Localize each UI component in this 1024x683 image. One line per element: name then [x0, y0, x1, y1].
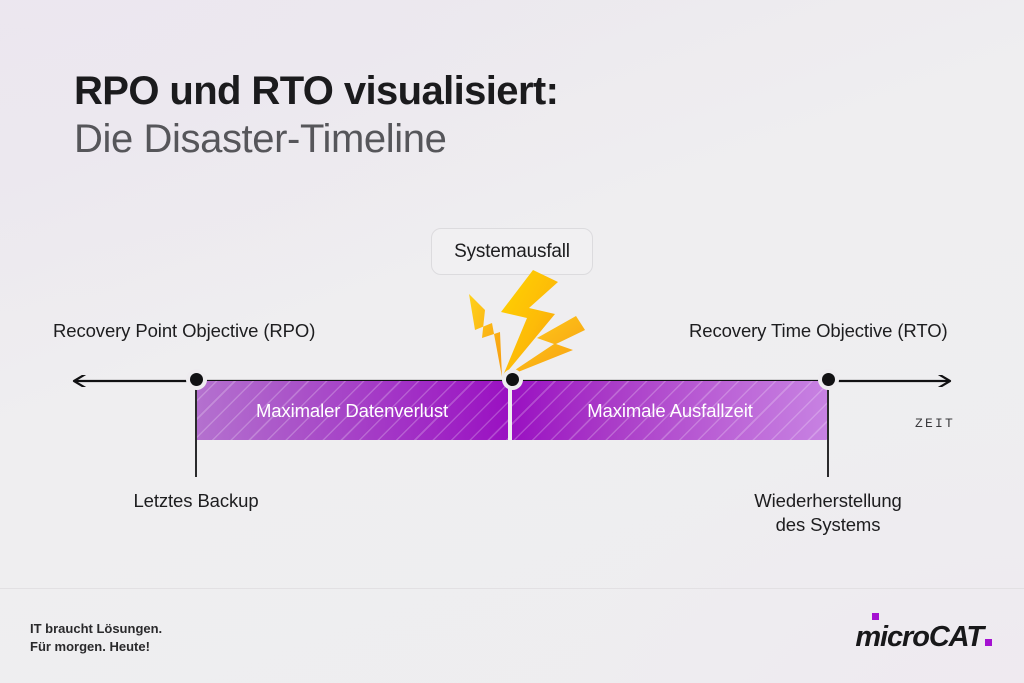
- marker-label-backup: Letztes Backup: [96, 489, 296, 513]
- segment-bar-rto: Maximale Ausfallzeit: [512, 381, 828, 440]
- rpo-caption: Recovery Point Objective (RPO): [53, 320, 315, 342]
- marker-label-restore-line2: des Systems: [728, 513, 928, 537]
- infographic-canvas: RPO und RTO visualisiert: Die Disaster-T…: [0, 0, 1024, 683]
- segment-bar-rpo-label: Maximaler Datenverlust: [196, 400, 508, 422]
- page-title: RPO und RTO visualisiert: Die Disaster-T…: [74, 69, 558, 163]
- marker-dropline-backup: [195, 381, 197, 477]
- footer-tagline-line1: IT braucht Lösungen.: [30, 620, 162, 638]
- logo-text-part1: micro: [855, 621, 928, 653]
- footer-tagline: IT braucht Lösungen. Für morgen. Heute!: [30, 620, 162, 657]
- marker-label-restore-line1: Wiederherstellung: [728, 489, 928, 513]
- marker-dot-restore: [822, 373, 835, 386]
- marker-dot-outage: [506, 373, 519, 386]
- footer-tagline-line2: Für morgen. Heute!: [30, 638, 162, 656]
- segment-bar-rto-label: Maximale Ausfallzeit: [512, 400, 828, 422]
- axis-unit-label: ZEIT: [915, 416, 955, 431]
- segment-bar-rpo: Maximaler Datenverlust: [196, 381, 508, 440]
- marker-dot-backup: [190, 373, 203, 386]
- microcat-logo-text: microCAT: [855, 623, 992, 652]
- microcat-logo: microCAT: [855, 618, 992, 652]
- footer-divider: [0, 588, 1024, 589]
- event-callout-box: Systemausfall: [431, 228, 593, 275]
- logo-i-dot-icon: [872, 613, 879, 620]
- title-line-secondary: Die Disaster-Timeline: [74, 116, 558, 163]
- event-callout-label: Systemausfall: [454, 241, 570, 263]
- rto-caption: Recovery Time Objective (RTO): [689, 320, 948, 342]
- title-line-primary: RPO und RTO visualisiert:: [74, 69, 558, 114]
- marker-label-restore: Wiederherstellung des Systems: [728, 489, 928, 537]
- logo-period-icon: [985, 639, 992, 646]
- logo-text-part2: CAT: [929, 621, 983, 653]
- lightning-bolt-icon: [455, 268, 595, 384]
- marker-dropline-restore: [827, 381, 829, 477]
